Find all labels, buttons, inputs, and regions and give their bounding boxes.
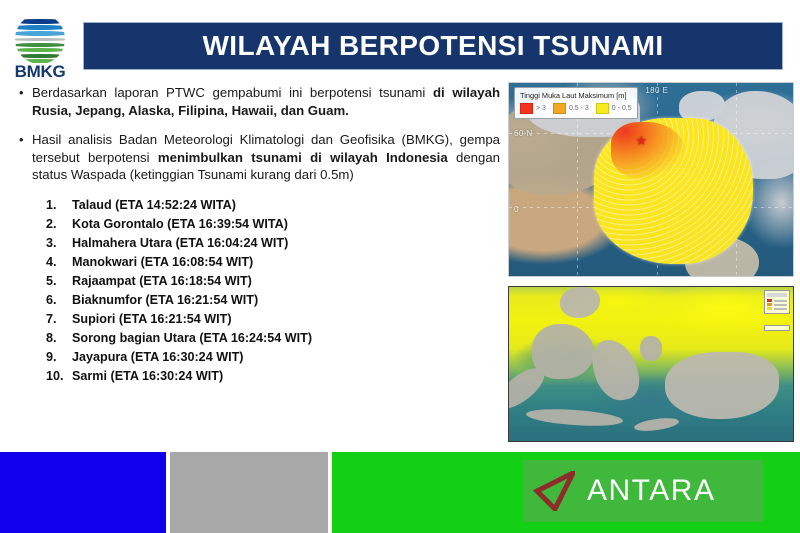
map-legend-secondary (764, 325, 790, 331)
bmkg-wave-green-2 (15, 48, 65, 52)
bmkg-logo: BMKG (6, 14, 74, 80)
list-item-index: 8. (38, 329, 72, 348)
legend-label-high: > 3 (536, 105, 546, 112)
bullet-text-1: Berdasarkan laporan PTWC gempabumi ini b… (32, 84, 500, 119)
legend-row (767, 299, 787, 302)
antara-wordmark: ANTARA (587, 474, 715, 508)
list-item-index: 7. (38, 310, 72, 329)
legend-label-low: 0 - 0.5 (612, 105, 632, 112)
bullet-2-segment-bold: menimbulkan tsunami di wilayah Indonesia (158, 150, 448, 165)
list-item: 6. Biaknumfor (ETA 16:21:54 WIT) (38, 291, 500, 310)
legend-row (767, 303, 787, 306)
bullet-1-segment-plain: Berdasarkan laporan PTWC gempabumi ini b… (32, 85, 433, 100)
list-item-index: 1. (38, 196, 72, 215)
indonesia-impact-map (508, 286, 794, 442)
list-item-label: Sarmi (ETA 16:30:24 WIT) (72, 367, 500, 386)
antara-arrow-icon (533, 471, 575, 511)
list-item-index: 5. (38, 272, 72, 291)
bullet-item-1: • Berdasarkan laporan PTWC gempabumi ini… (14, 84, 500, 119)
tsunami-propagation-map: ★ 180 E 60 N 0 Tinggi Muka Laut Maksimum… (508, 82, 794, 277)
page-title-bar: WILAYAH BERPOTENSI TSUNAMI (83, 22, 783, 70)
list-item-index: 6. (38, 291, 72, 310)
legend-row (767, 307, 787, 310)
bmkg-wave-green-1 (15, 43, 65, 47)
axis-label-lat-60n: 60 N (514, 129, 533, 138)
bmkg-wave-blue-1 (15, 19, 65, 24)
legend-swatch (767, 303, 772, 306)
footer-band-gray (170, 452, 328, 533)
axis-label-lon-180e: 180 E (645, 86, 668, 95)
legend-label-placeholder (774, 308, 787, 310)
list-item-label: Rajaampat (ETA 16:18:54 WIT) (72, 272, 500, 291)
page-title: WILAYAH BERPOTENSI TSUNAMI (202, 30, 663, 62)
map-legend-primary (764, 290, 790, 314)
bullet-marker-icon: • (14, 84, 32, 119)
list-item: 4. Manokwari (ETA 16:08:54 WIT) (38, 253, 500, 272)
list-item-index: 10. (38, 367, 72, 386)
legend-swatch (767, 307, 772, 310)
bmkg-wave-blue-3 (15, 31, 65, 36)
list-item: 9. Jayapura (ETA 16:30:24 WIT) (38, 348, 500, 367)
list-item: 7. Supiori (ETA 16:21:54 WIT) (38, 310, 500, 329)
list-item-label: Manokwari (ETA 16:08:54 WIT) (72, 253, 500, 272)
epicenter-star-icon: ★ (635, 135, 646, 146)
bullet-marker-icon: • (14, 131, 32, 184)
legend-header (767, 293, 787, 297)
axis-label-lat-0: 0 (514, 205, 519, 214)
bmkg-wave-separator (15, 38, 65, 41)
list-item-label: Supiori (ETA 16:21:54 WIT) (72, 310, 500, 329)
footer-band-blue (0, 452, 166, 533)
bmkg-wordmark: BMKG (6, 62, 74, 82)
list-item: 3. Halmahera Utara (ETA 16:04:24 WIT) (38, 234, 500, 253)
list-item-label: Biaknumfor (ETA 16:21:54 WIT) (72, 291, 500, 310)
legend-items: > 3 0.5 - 3 0 - 0.5 (520, 103, 632, 114)
bmkg-wave-green-3 (15, 54, 65, 58)
legend-item: 0 - 0.5 (596, 103, 632, 114)
bmkg-wave-blue-2 (15, 25, 65, 30)
bmkg-emblem-icon (15, 14, 65, 64)
antara-logo: ANTARA (523, 460, 763, 522)
list-item-label: Kota Gorontalo (ETA 16:39:54 WITA) (72, 215, 500, 234)
list-item-label: Sorong bagian Utara (ETA 16:24:54 WIT) (72, 329, 500, 348)
bullet-item-2: • Hasil analisis Badan Meteorologi Klima… (14, 131, 500, 184)
legend-swatch-low (596, 103, 609, 114)
legend-label-placeholder (774, 304, 787, 306)
landmass-papua (665, 352, 779, 420)
bullet-text-2: Hasil analisis Badan Meteorologi Klimato… (32, 131, 500, 184)
map-legend: Tinggi Muka Laut Maksimum [m] > 3 0.5 - … (514, 87, 638, 119)
list-item-index: 2. (38, 215, 72, 234)
list-item: 8. Sorong bagian Utara (ETA 16:24:54 WIT… (38, 329, 500, 348)
list-item-index: 9. (38, 348, 72, 367)
legend-label-placeholder (774, 300, 787, 302)
legend-item: > 3 (520, 103, 546, 114)
content-body: • Berdasarkan laporan PTWC gempabumi ini… (14, 84, 500, 386)
plume-high-amplitude-zone (611, 122, 685, 180)
legend-item: 0.5 - 3 (553, 103, 589, 114)
list-item-label: Jayapura (ETA 16:30:24 WIT) (72, 348, 500, 367)
list-item: 2. Kota Gorontalo (ETA 16:39:54 WITA) (38, 215, 500, 234)
list-item-label: Talaud (ETA 14:52:24 WITA) (72, 196, 500, 215)
legend-swatch-high (520, 103, 533, 114)
list-item-index: 3. (38, 234, 72, 253)
legend-label-mid: 0.5 - 3 (569, 105, 589, 112)
footer-bands: ANTARA (0, 452, 800, 533)
legend-swatch (767, 299, 772, 302)
legend-title: Tinggi Muka Laut Maksimum [m] (520, 91, 632, 100)
slide-canvas: BMKG WILAYAH BERPOTENSI TSUNAMI • Berdas… (0, 0, 800, 533)
affected-areas-list: 1. Talaud (ETA 14:52:24 WITA) 2. Kota Go… (38, 196, 500, 387)
legend-swatch-mid (553, 103, 566, 114)
list-item-label: Halmahera Utara (ETA 16:04:24 WIT) (72, 234, 500, 253)
list-item: 5. Rajaampat (ETA 16:18:54 WIT) (38, 272, 500, 291)
list-item-index: 4. (38, 253, 72, 272)
list-item: 1. Talaud (ETA 14:52:24 WITA) (38, 196, 500, 215)
landmass-halmahera (640, 336, 663, 361)
list-item: 10. Sarmi (ETA 16:30:24 WIT) (38, 367, 500, 386)
